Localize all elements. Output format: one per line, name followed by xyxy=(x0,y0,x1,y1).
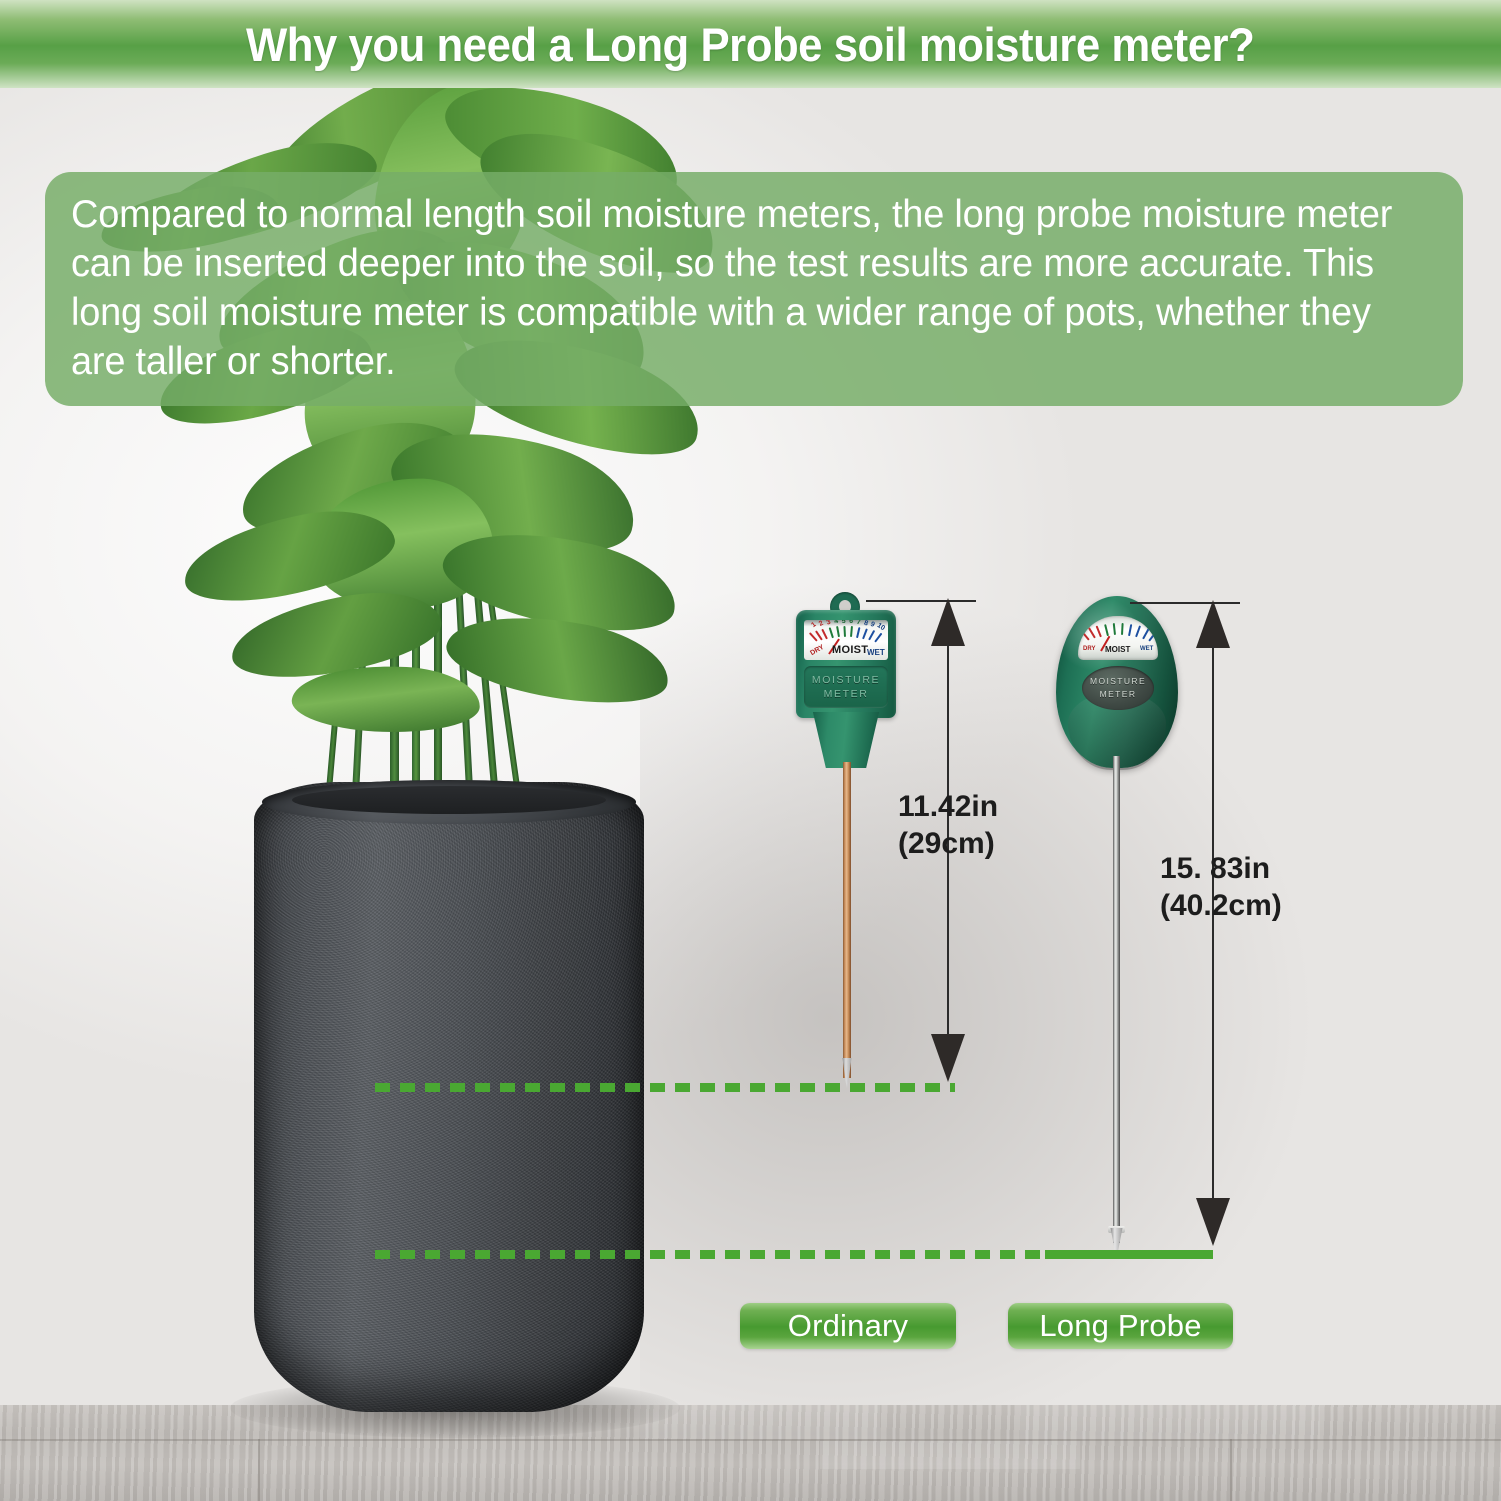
long-probe-label-pill[interactable]: Long Probe xyxy=(1008,1303,1233,1349)
nameplate-line-1: MOISTURE xyxy=(812,673,880,687)
header-banner: Why you need a Long Probe soil moisture … xyxy=(0,0,1501,88)
wall-shadow xyxy=(640,430,1500,1410)
ordinary-meter-neck xyxy=(810,712,882,768)
badge-line-1: MOISTURE xyxy=(1090,675,1146,688)
gauge-number: 4 xyxy=(834,620,839,625)
long-probe-meter-device: DRY MOIST WET MOISTURE METER xyxy=(1056,596,1178,772)
gauge-number: 6 xyxy=(849,620,853,625)
gauge-dry-label: DRY xyxy=(1083,646,1095,652)
gauge-moist-label: MOIST xyxy=(1105,645,1130,654)
gauge-number: 10 xyxy=(876,622,886,632)
gauge-moist-label: MOIST xyxy=(832,644,868,656)
badge-line-2: METER xyxy=(1100,688,1137,701)
gauge-number: 2 xyxy=(818,620,825,628)
long-probe-meter-probe xyxy=(1113,756,1120,1243)
ordinary-meter-nameplate: MOISTURE METER xyxy=(804,666,888,708)
long-probe-dimension-inches: 15. 83in xyxy=(1160,850,1270,887)
ordinary-pill-label: Ordinary xyxy=(788,1308,908,1344)
gauge-dry-label: DRY xyxy=(809,644,825,657)
infographic-canvas: Why you need a Long Probe soil moisture … xyxy=(0,0,1501,1501)
ordinary-meter-probe xyxy=(843,762,851,1078)
gauge-number: 1 xyxy=(810,621,817,629)
ordinary-label-pill[interactable]: Ordinary xyxy=(740,1303,956,1349)
ordinary-dimension-cm: (29cm) xyxy=(898,825,995,862)
plant-pot xyxy=(254,782,644,1412)
long-probe-dimension-cm: (40.2cm) xyxy=(1160,887,1282,924)
page-title: Why you need a Long Probe soil moisture … xyxy=(246,17,1254,72)
description-text: Compared to normal length soil moisture … xyxy=(71,190,1418,386)
gauge-number: 5 xyxy=(841,620,846,625)
gauge-wet-label: WET xyxy=(1140,646,1153,652)
gauge-wet-label: WET xyxy=(867,648,885,657)
pot-soil xyxy=(292,786,606,814)
long-probe-depth-guide-solid xyxy=(1045,1250,1213,1259)
gauge-number: 8 xyxy=(863,620,869,628)
ordinary-depth-guide-line xyxy=(375,1083,955,1092)
long-probe-pill-label: Long Probe xyxy=(1039,1308,1201,1344)
ordinary-meter-body: 1 2 3 4 5 6 7 8 9 10 DRY MOIST WET MOIST… xyxy=(796,610,896,718)
long-probe-meter-badge: MOISTURE METER xyxy=(1082,666,1154,710)
description-card: Compared to normal length soil moisture … xyxy=(45,172,1463,406)
nameplate-line-2: METER xyxy=(824,687,869,701)
floor-background xyxy=(0,1405,1501,1501)
ordinary-meter-device: 1 2 3 4 5 6 7 8 9 10 DRY MOIST WET MOIST… xyxy=(786,592,904,788)
ordinary-dimension-inches: 11.42in xyxy=(898,788,998,825)
gauge-number: 7 xyxy=(856,620,861,626)
gauge-number: 3 xyxy=(826,620,832,627)
ordinary-gauge-display: 1 2 3 4 5 6 7 8 9 10 DRY MOIST WET xyxy=(804,620,888,660)
